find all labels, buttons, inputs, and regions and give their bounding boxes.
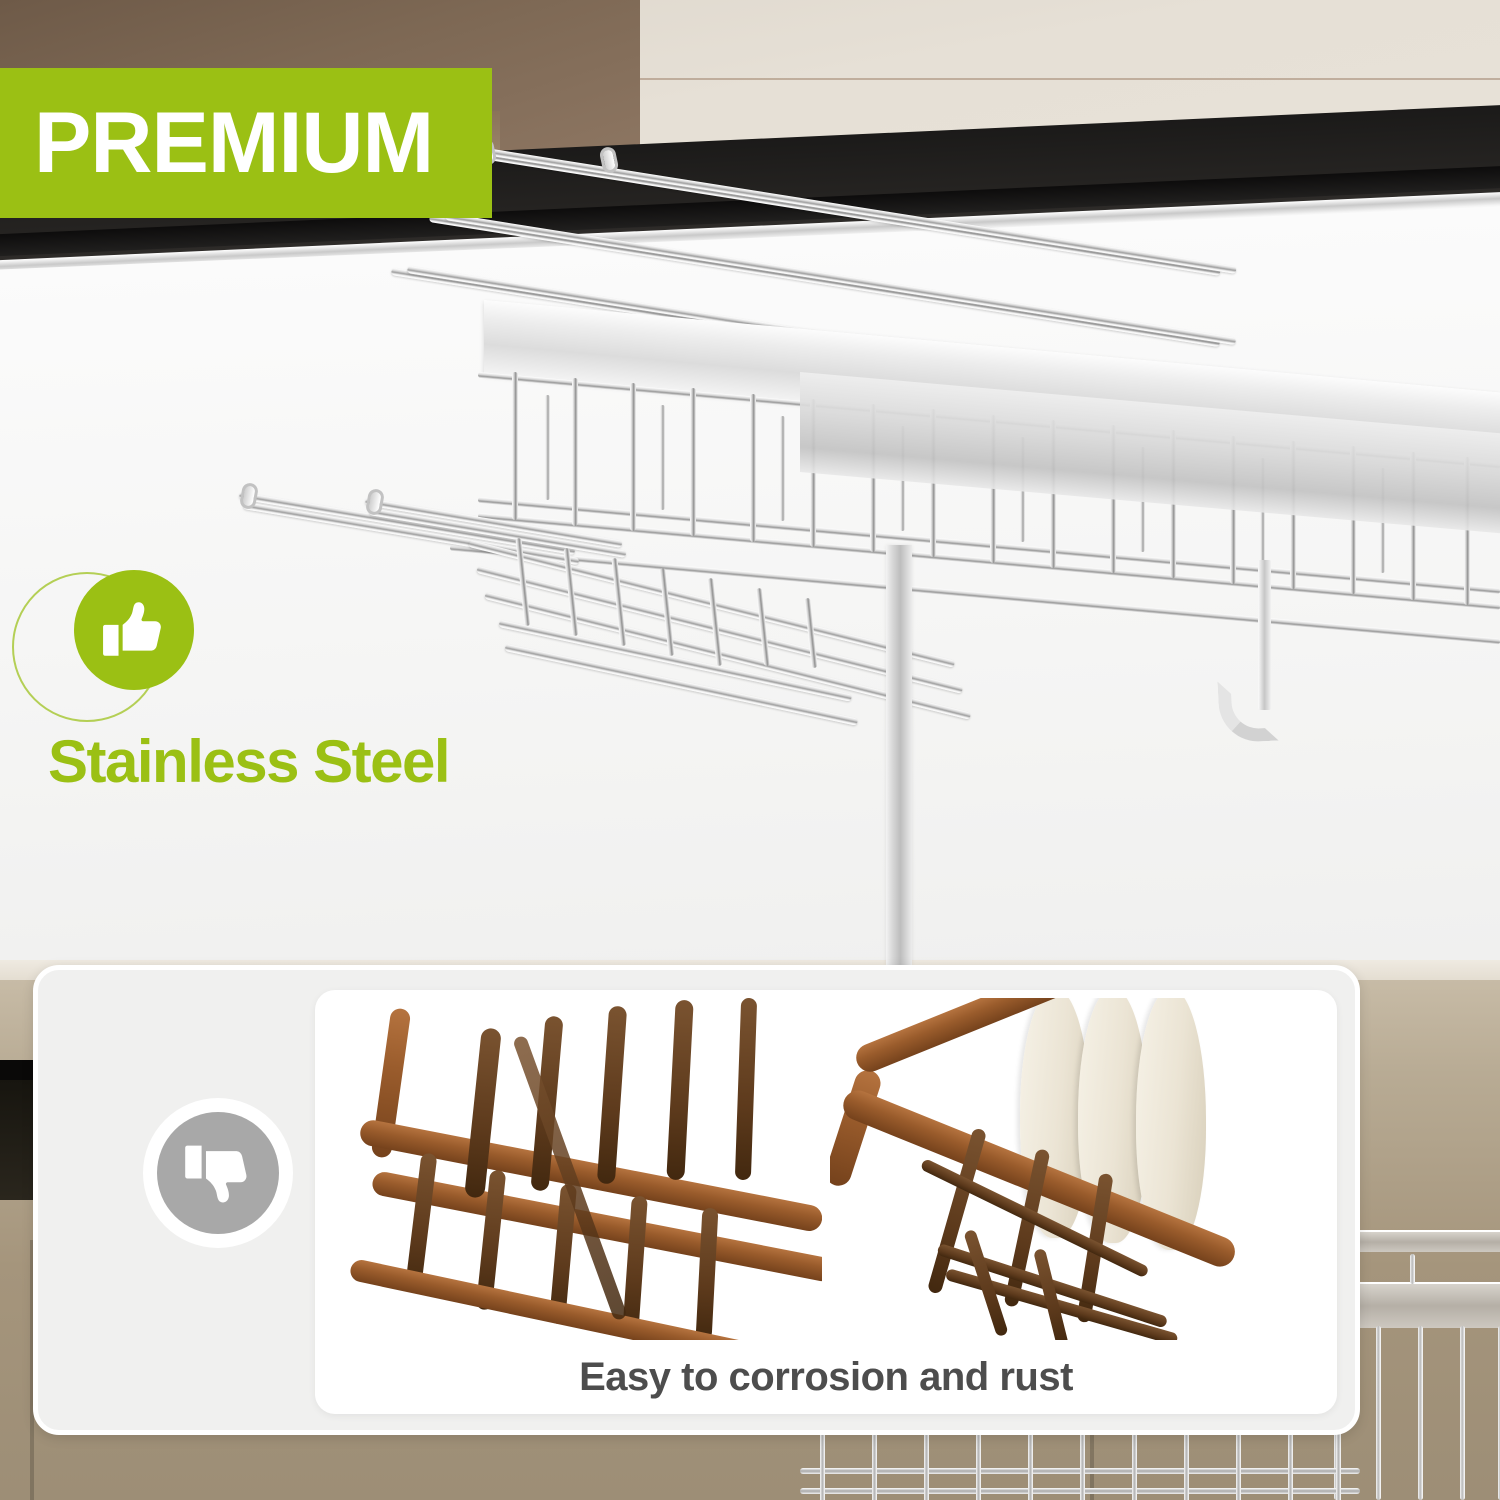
product-marketing-image: PREMIUM Stainless Steel [0, 0, 1500, 1500]
rack-basket-wire [756, 588, 770, 666]
rack-support-post [886, 545, 912, 965]
rusty-dish-rack-photo-left [323, 998, 822, 1340]
thumbs-down-icon-wrapper [143, 1098, 293, 1248]
comparison-panel: Easy to corrosion and rust [33, 965, 1360, 1435]
feature-stainless-steel: Stainless Steel [48, 570, 449, 792]
rack-top-rail [485, 148, 1237, 274]
rusty-dish-rack-with-plates-photo-right [830, 998, 1329, 1340]
rack-divider-wire [660, 405, 665, 510]
corrosion-photo-card: Easy to corrosion and rust [315, 990, 1337, 1414]
corrosion-caption: Easy to corrosion and rust [315, 1340, 1337, 1414]
left-dark-trim-top [0, 1060, 34, 1082]
left-dark-trim [0, 1080, 34, 1200]
feature-stainless-steel-label: Stainless Steel [48, 732, 449, 792]
rack-divider-wire [780, 416, 785, 521]
premium-badge: PREMIUM [0, 68, 492, 218]
rack-divider-wire [630, 383, 636, 531]
rack-divider-wire [512, 372, 518, 520]
s-hook-curve [1217, 679, 1278, 744]
corrosion-photo-row [315, 990, 1337, 1340]
thumbs-down-icon [157, 1112, 279, 1234]
premium-badge-label: PREMIUM [34, 100, 433, 186]
rack-divider-wire [545, 395, 550, 500]
rack-divider-wire [690, 388, 696, 536]
rack-divider-wire [750, 394, 756, 542]
rack-divider-wire [572, 378, 578, 526]
thumbs-up-icon [74, 570, 194, 690]
